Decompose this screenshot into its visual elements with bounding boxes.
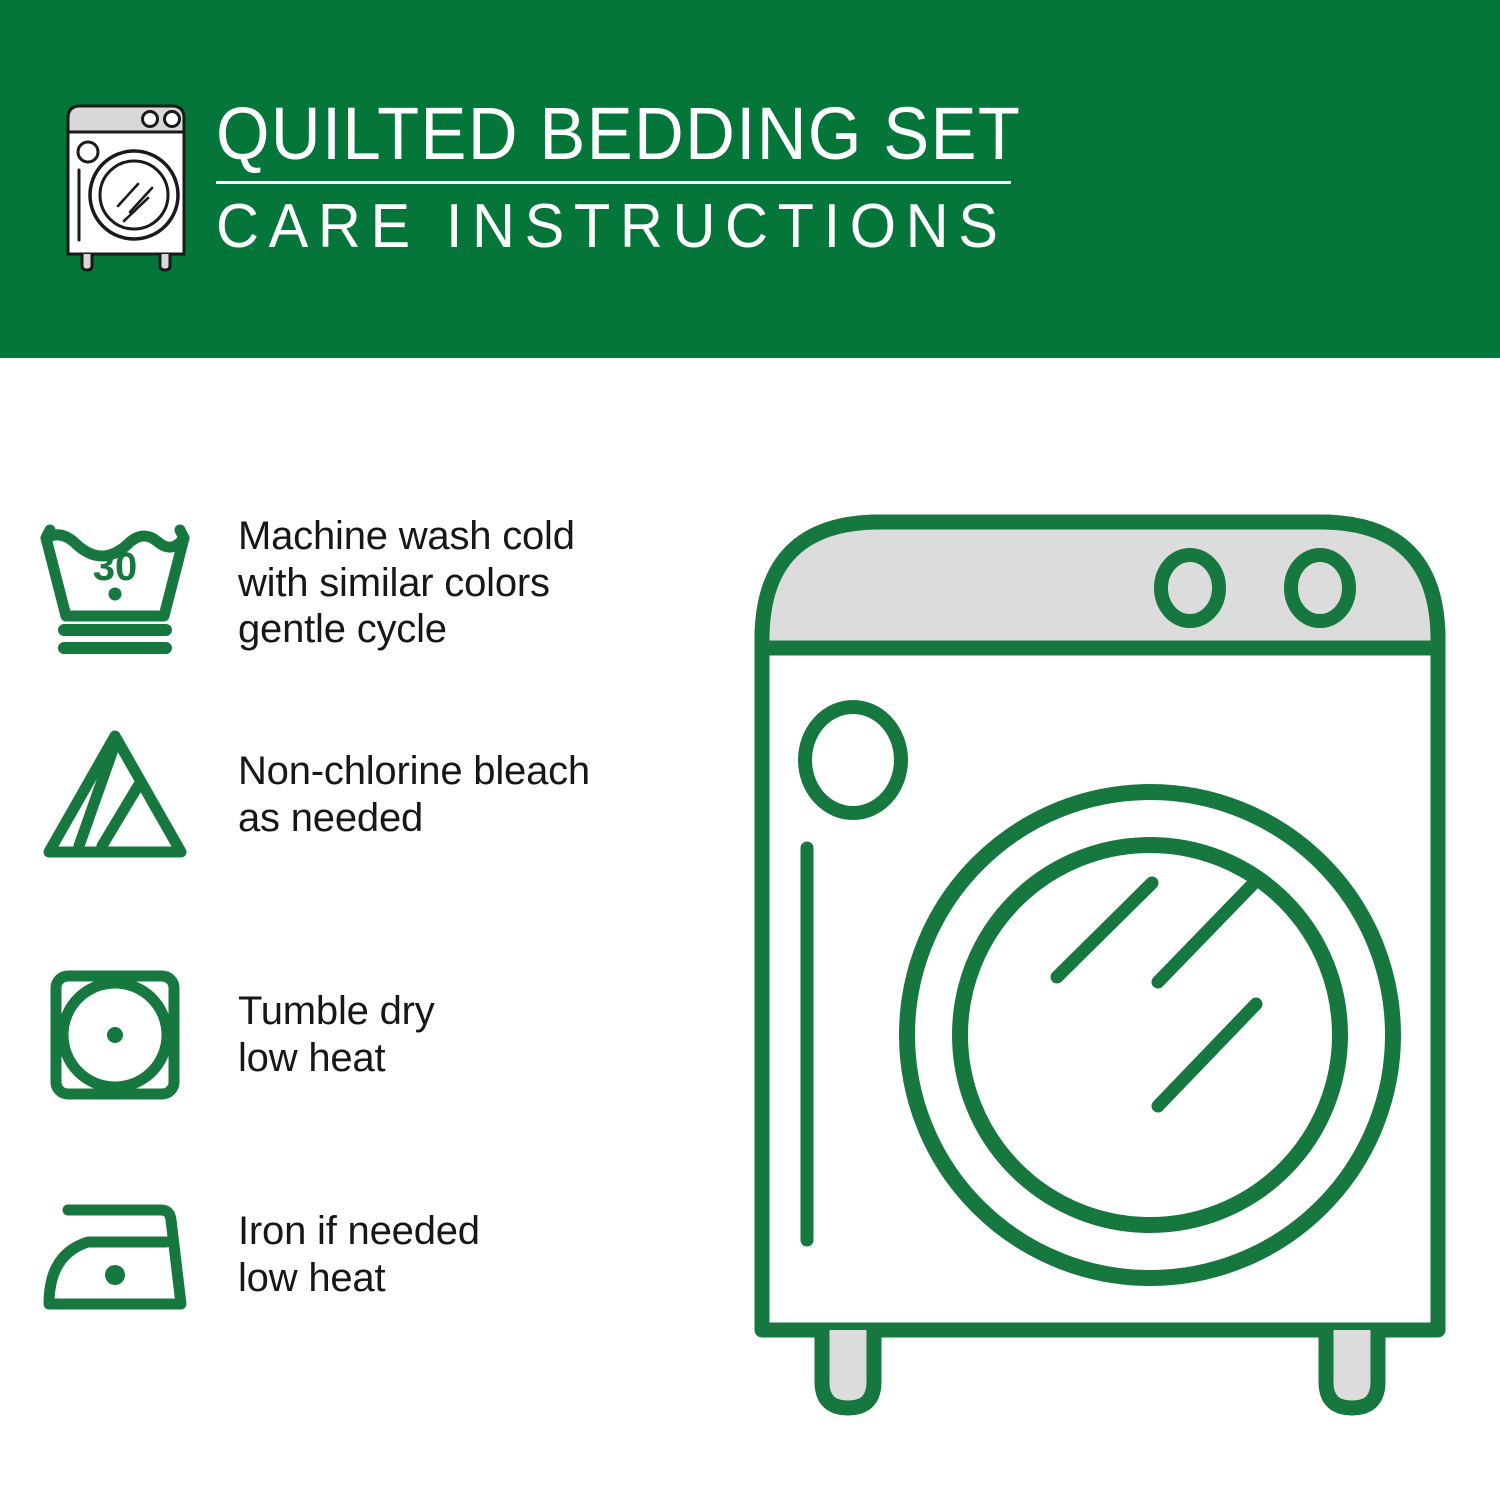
header-text-block: QUILTED BEDDING SET CARE INSTRUCTIONS <box>216 96 1016 260</box>
instruction-label-wrap: Iron if needed low heat <box>230 1208 730 1302</box>
instruction-list: 30 Machine wash cold with similar colors… <box>0 358 730 1500</box>
wash-tub-30-gentle-icon: 30 <box>0 508 230 658</box>
iron-low-heat-icon <box>0 1180 230 1330</box>
door-inner-ring <box>960 845 1340 1225</box>
machine-leg-left <box>822 1330 874 1408</box>
indicator-light <box>805 707 901 813</box>
instruction-label-iron: Iron if needed low heat <box>238 1208 730 1302</box>
wash-temperature-value: 30 <box>93 545 138 589</box>
instruction-row-dry: Tumble dry low heat <box>0 950 730 1120</box>
control-knob-right <box>1291 555 1349 621</box>
instruction-label-wrap: Non-chlorine bleach as needed <box>230 748 730 842</box>
instruction-row-wash: 30 Machine wash cold with similar colors… <box>0 498 730 668</box>
tumble-dry-low-heat-icon <box>0 960 230 1110</box>
instruction-row-bleach: Non-chlorine bleach as needed <box>0 710 730 880</box>
instruction-label-dry: Tumble dry low heat <box>238 988 730 1082</box>
header-banner: QUILTED BEDDING SET CARE INSTRUCTIONS <box>0 0 1500 358</box>
instruction-label-wrap: Machine wash cold with similar colors ge… <box>230 513 730 653</box>
instruction-label-bleach: Non-chlorine bleach as needed <box>238 748 730 842</box>
front-load-washing-machine-illustration <box>740 470 1460 1430</box>
washing-machine-icon <box>62 100 202 272</box>
instruction-label-wrap: Tumble dry low heat <box>230 988 730 1082</box>
control-knob-left <box>1161 555 1219 621</box>
instruction-label-wash: Machine wash cold with similar colors ge… <box>238 513 730 653</box>
instruction-row-iron: Iron if needed low heat <box>0 1170 730 1340</box>
machine-leg-right <box>1326 1330 1378 1408</box>
header-divider <box>216 181 1011 184</box>
page-title: QUILTED BEDDING SET <box>216 96 960 171</box>
non-chlorine-bleach-triangle-icon <box>0 720 230 870</box>
page-subtitle: CARE INSTRUCTIONS <box>216 194 984 259</box>
